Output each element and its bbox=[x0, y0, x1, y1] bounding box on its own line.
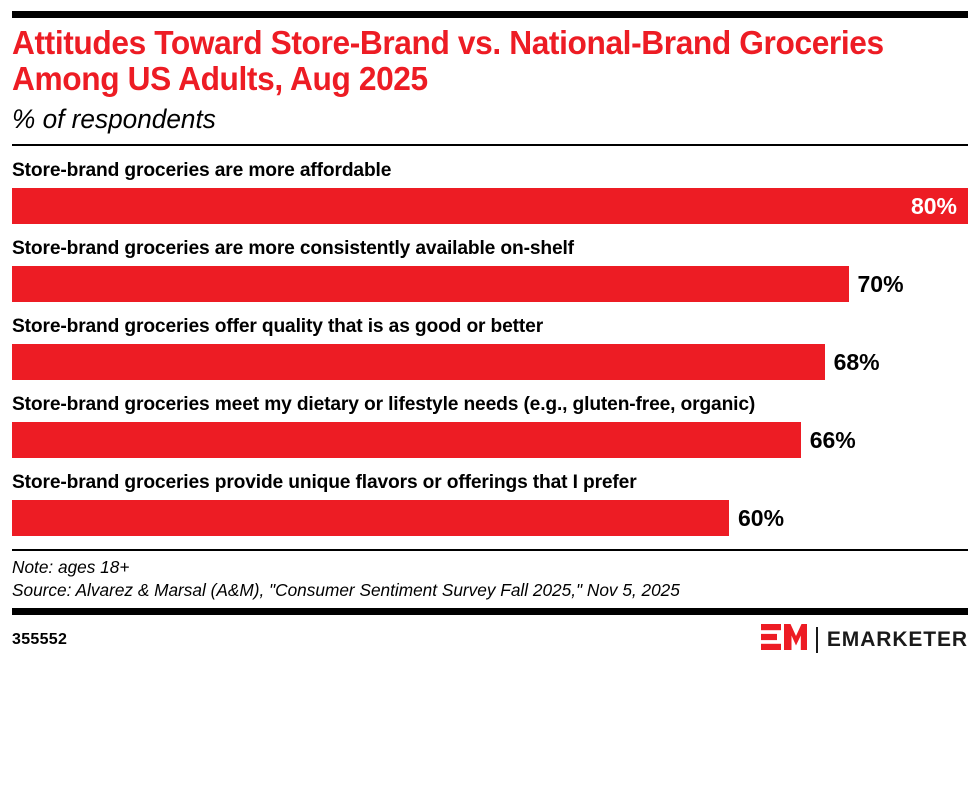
bar[interactable] bbox=[12, 344, 825, 380]
chart-row: Store-brand groceries meet my dietary or… bbox=[12, 393, 968, 458]
chart-row: Store-brand groceries provide unique fla… bbox=[12, 471, 968, 536]
bar[interactable] bbox=[12, 188, 968, 224]
top-rule bbox=[12, 11, 968, 18]
footer-bottom-rule bbox=[12, 608, 968, 615]
bar-track: 68% bbox=[12, 344, 968, 380]
chart-id: 355552 bbox=[12, 631, 67, 649]
logo-divider bbox=[816, 627, 818, 653]
chart-source: Source: Alvarez & Marsal (A&M), "Consume… bbox=[12, 579, 954, 608]
bar-category-label: Store-brand groceries offer quality that… bbox=[12, 315, 954, 338]
bar-track: 80% bbox=[12, 188, 968, 224]
bar-track: 60% bbox=[12, 500, 968, 536]
bar-category-label: Store-brand groceries provide unique fla… bbox=[12, 471, 954, 494]
bar-value-label: 68% bbox=[825, 344, 880, 380]
page-title: Attitudes Toward Store-Brand vs. Nationa… bbox=[12, 25, 930, 97]
bar-track: 66% bbox=[12, 422, 968, 458]
chart-row: Store-brand groceries are more affordabl… bbox=[12, 159, 968, 224]
emarketer-logo[interactable]: EMARKETER bbox=[761, 623, 968, 656]
bar[interactable] bbox=[12, 266, 849, 302]
bar-category-label: Store-brand groceries are more consisten… bbox=[12, 237, 954, 260]
chart-row: Store-brand groceries offer quality that… bbox=[12, 315, 968, 380]
bar[interactable] bbox=[12, 422, 801, 458]
footer-bottom-bar: 355552 EMARKETER bbox=[12, 615, 968, 656]
bar-category-label: Store-brand groceries are more affordabl… bbox=[12, 159, 954, 182]
bar-category-label: Store-brand groceries meet my dietary or… bbox=[12, 393, 954, 416]
bar-value-label: 70% bbox=[849, 266, 904, 302]
bar-track: 70% bbox=[12, 266, 968, 302]
em-monogram-icon bbox=[761, 623, 807, 656]
logo-wordmark: EMARKETER bbox=[827, 628, 968, 652]
chart-row: Store-brand groceries are more consisten… bbox=[12, 237, 968, 302]
bar-value-label: 66% bbox=[801, 422, 856, 458]
chart-header: Attitudes Toward Store-Brand vs. Nationa… bbox=[12, 0, 968, 146]
bar-value-label: 80% bbox=[911, 188, 968, 224]
bar-value-label: 60% bbox=[729, 500, 784, 536]
chart-note: Note: ages 18+ bbox=[12, 551, 954, 579]
bar-chart: Store-brand groceries are more affordabl… bbox=[12, 146, 968, 536]
bar[interactable] bbox=[12, 500, 729, 536]
chart-page: Attitudes Toward Store-Brand vs. Nationa… bbox=[0, 0, 980, 811]
page-subtitle: % of respondents bbox=[12, 103, 939, 135]
